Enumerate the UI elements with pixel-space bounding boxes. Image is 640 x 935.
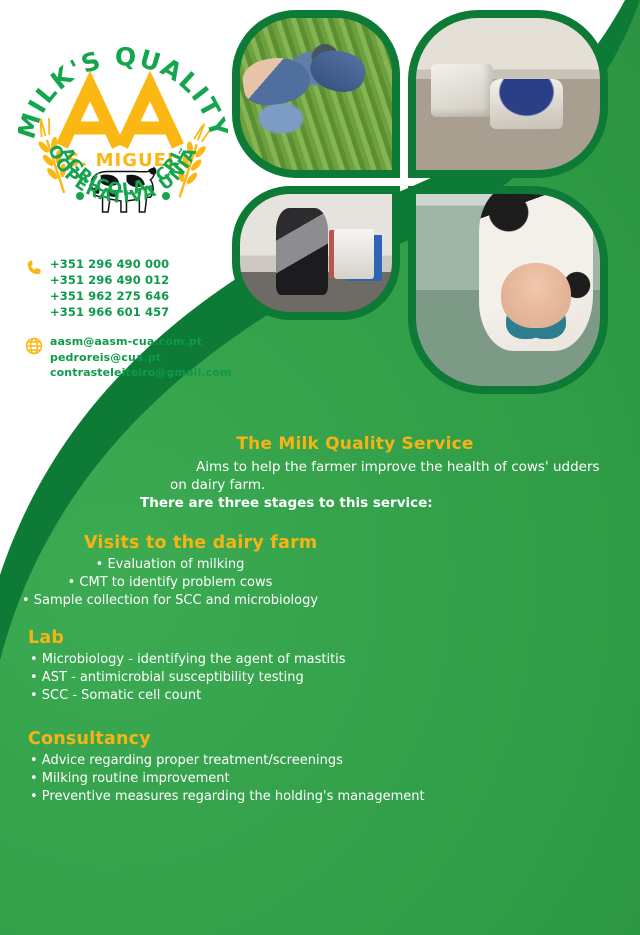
section-list-visits: • Evaluation of milking • CMT to identif…	[0, 556, 340, 610]
list-item: • CMT to identify problem cows	[0, 574, 340, 592]
service-intro-line-1: Aims to help the farmer improve the heal…	[196, 458, 616, 476]
section-list-lab: • Microbiology - identifying the agent o…	[30, 651, 450, 705]
service-intro-line-3: There are three stages to this service:	[140, 494, 570, 512]
service-intro-line-2: on dairy farm.	[170, 476, 590, 494]
section-list-consultancy: • Advice regarding proper treatment/scre…	[30, 752, 510, 806]
service-title: The Milk Quality Service	[210, 434, 500, 454]
poster-page: MILK'S QUALITY S. MIGUEL COOP	[0, 0, 640, 935]
list-item: • Preventive measures regarding the hold…	[30, 788, 510, 806]
section-heading-consultancy: Consultancy	[28, 729, 151, 749]
list-item: • Milking routine improvement	[30, 770, 510, 788]
list-item: • AST - antimicrobial susceptibility tes…	[30, 669, 450, 687]
section-heading-lab: Lab	[28, 628, 64, 648]
section-heading-visits: Visits to the dairy farm	[84, 533, 317, 553]
list-item: • Evaluation of milking	[0, 556, 340, 574]
list-item: • Sample collection for SCC and microbio…	[0, 592, 340, 610]
list-item: • SCC - Somatic cell count	[30, 687, 450, 705]
poster-copy: The Milk Quality Service Aims to help th…	[0, 0, 640, 935]
list-item: • Advice regarding proper treatment/scre…	[30, 752, 510, 770]
list-item: • Microbiology - identifying the agent o…	[30, 651, 450, 669]
